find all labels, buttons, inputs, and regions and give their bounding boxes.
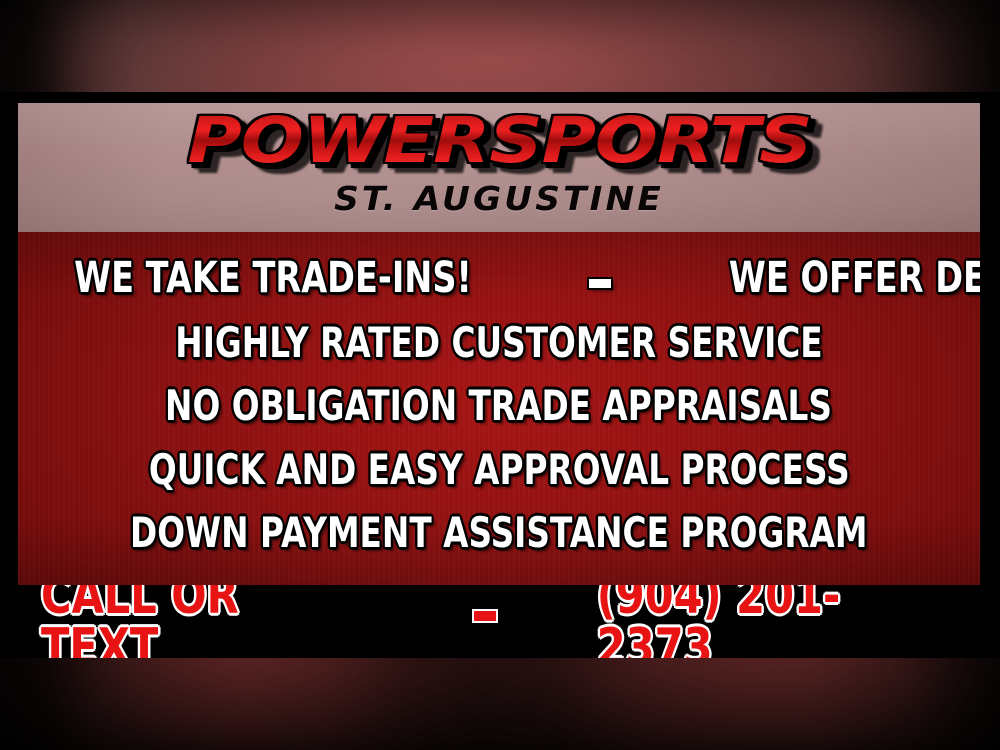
feature-customer-service-label: HIGHLY RATED CUSTOMER SERVICE — [175, 321, 822, 365]
brand-logo-primary: POWERSPORTS — [187, 109, 811, 172]
cta-action-label[interactable]: CALL OR TEXT — [41, 585, 369, 658]
feature-line-1: WE TAKE TRADE-INS! WE OFFER DELIVERY! — [18, 256, 980, 301]
background-vignette-bottom — [0, 650, 1000, 750]
call-to-action-bar: CALL OR TEXT (904) 201-2373 — [0, 585, 1000, 658]
cta-separator-dash-icon — [474, 611, 496, 621]
brand-logo-location: ST. AUGUSTINE — [18, 182, 980, 215]
background-vignette-top — [0, 0, 1000, 100]
features-list: WE TAKE TRADE-INS! WE OFFER DELIVERY! HI… — [18, 232, 980, 585]
cta-phone-number[interactable]: (904) 201-2373 — [597, 585, 955, 658]
feature-approval-process-label: QUICK AND EASY APPROVAL PROCESS — [149, 448, 850, 492]
features-panel: WE TAKE TRADE-INS! WE OFFER DELIVERY! HI… — [18, 232, 980, 585]
logo-wrapper: POWERSPORTS ST. AUGUSTINE — [18, 109, 980, 215]
feature-line-2: HIGHLY RATED CUSTOMER SERVICE — [18, 321, 980, 365]
logo-band: POWERSPORTS ST. AUGUSTINE — [18, 103, 980, 232]
separator-dash-icon — [589, 279, 611, 288]
background-blur-bottom — [0, 650, 1000, 750]
feature-trade-appraisals-label: NO OBLIGATION TRADE APPRAISALS — [166, 384, 833, 428]
feature-line-3: NO OBLIGATION TRADE APPRAISALS — [18, 384, 980, 428]
feature-line-5: DOWN PAYMENT ASSISTANCE PROGRAM — [18, 511, 980, 555]
feature-delivery-label: WE OFFER DELIVERY! — [729, 256, 980, 301]
feature-trade-ins-label: WE TAKE TRADE-INS! — [74, 256, 472, 301]
background-blur-top — [0, 0, 1000, 100]
feature-line-4: QUICK AND EASY APPROVAL PROCESS — [18, 448, 980, 492]
feature-down-payment-label: DOWN PAYMENT ASSISTANCE PROGRAM — [130, 511, 868, 555]
powersports-advertisement: POWERSPORTS ST. AUGUSTINE WE TAKE TRADE-… — [0, 0, 1000, 750]
